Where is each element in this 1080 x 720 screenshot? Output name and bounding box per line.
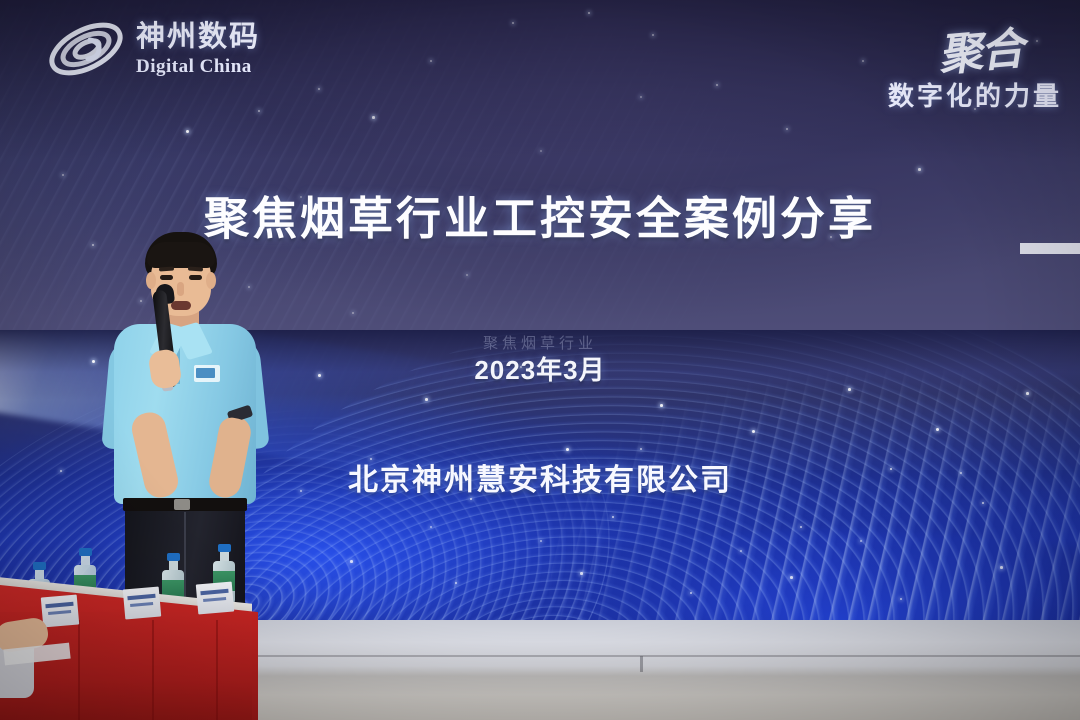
speaker-hair-front (147, 242, 215, 268)
sparkle-dot (186, 130, 189, 133)
sparkle-dot (900, 598, 902, 600)
speaker-belt-buckle (174, 499, 190, 510)
sparkle-dot (1000, 566, 1003, 569)
digital-china-logo: 神州数码 Digital China (44, 18, 260, 80)
speaker-left-eye (160, 275, 173, 280)
sparkle-dot (430, 526, 432, 528)
name-card-text (200, 589, 228, 595)
sparkle-dot (588, 12, 590, 14)
sparkle-dot (786, 128, 788, 130)
conference-photo: 聚焦烟草行业 聚焦烟草行业工控安全案例分享 2023年3月 北京神州慧安科技有限… (0, 0, 1080, 720)
speaker-nose (177, 282, 184, 296)
sparkle-dot (466, 274, 468, 276)
drape-fold (78, 620, 80, 720)
bottle-cap (167, 553, 180, 561)
speaker (96, 232, 286, 627)
sparkle-dot (566, 448, 569, 451)
sparkle-dot (936, 428, 939, 431)
name-card-subtext (203, 597, 226, 602)
sparkle-dot (512, 22, 514, 24)
speaker-right-eye (189, 275, 202, 280)
sparkle-dot (350, 560, 353, 563)
speaker-left-ear (146, 272, 156, 289)
bottle-neck (169, 561, 178, 570)
juhe-logo: 聚合 数字化的力量 (888, 16, 1062, 113)
juhe-subtitle: 数字化的力量 (888, 76, 1062, 113)
bottle-cap (79, 548, 92, 556)
swirl-galaxy-icon (44, 18, 128, 80)
sparkle-dot (640, 96, 642, 98)
sparkle-dot (652, 34, 654, 36)
name-card-text (45, 602, 73, 608)
sparkle-dot (580, 572, 583, 575)
sparkle-dot (640, 448, 642, 450)
bottle-cap (33, 562, 46, 570)
stage-apron-seam (640, 656, 643, 672)
drape-fold (216, 620, 218, 720)
sparkle-dot (716, 84, 718, 86)
name-card-subtext (48, 610, 71, 615)
screen-right-white-bar (1020, 243, 1080, 254)
name-card-subtext (130, 602, 153, 607)
sparkle-dot (848, 388, 851, 391)
sparkle-dot (790, 576, 793, 579)
sparkle-dot (540, 540, 542, 542)
bottle-neck (220, 552, 229, 561)
sparkle-dot (425, 398, 428, 401)
sparkle-dot (800, 526, 802, 528)
sparkle-dot (660, 404, 663, 407)
logo-english-text: Digital China (136, 57, 260, 76)
name-card (123, 586, 161, 619)
name-card (41, 594, 79, 627)
logo-chinese-text: 神州数码 (136, 23, 260, 52)
sparkle-dot (540, 150, 542, 152)
sparkle-dot (318, 88, 320, 90)
juhe-calligraphy: 聚合 (935, 12, 1024, 83)
sparkle-dot (752, 430, 755, 433)
sparkle-dot (690, 592, 692, 594)
speaker-chest-badge-mark (196, 368, 215, 378)
sparkle-dot (430, 60, 432, 62)
sparkle-dot (1026, 392, 1029, 395)
sparkle-dot (860, 540, 862, 542)
name-card (196, 581, 234, 614)
sparkle-dot (740, 550, 742, 552)
sparkle-dot (352, 312, 354, 314)
bottle-cap (218, 544, 231, 552)
bottle-neck (35, 570, 44, 579)
drape-fold (152, 620, 154, 720)
sparkle-dot (258, 110, 260, 112)
speaker-right-ear (206, 272, 216, 289)
speaker-mouth (171, 301, 191, 310)
bottle-neck (81, 556, 90, 565)
sparkle-dot (62, 174, 64, 176)
sparkle-dot (862, 60, 864, 62)
sparkle-dot (982, 502, 984, 504)
sparkle-dot (612, 516, 614, 518)
name-card-text (127, 594, 155, 600)
sparkle-dot (918, 168, 921, 171)
sparkle-dot (455, 582, 457, 584)
sparkle-dot (372, 116, 375, 119)
